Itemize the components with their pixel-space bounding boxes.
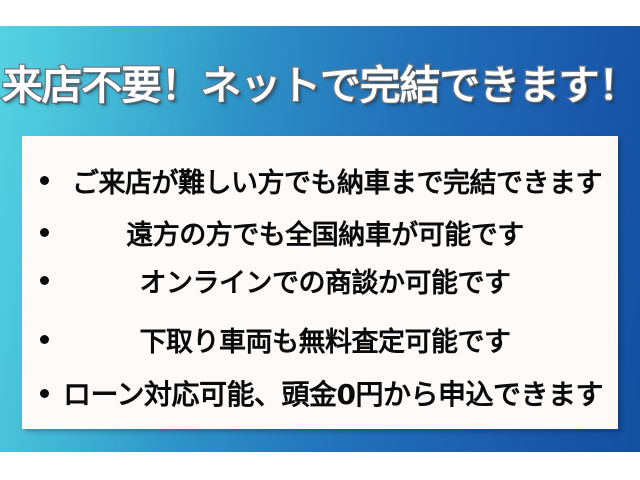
list-item: 下取り車両も無料査定可能です [22,317,618,361]
feature-card: ご来店が難しい方でも納車まで完結できます 遠方の方でも全国納車が可能です オンラ… [22,136,618,429]
promo-banner: 来店不要！ネットで完結できます！ ご来店が難しい方でも納車まで完結できます 遠方… [0,26,640,452]
headline-text: 来店不要！ネットで完結できます！ [2,53,638,111]
list-item: オンラインでの商談か可能です [22,258,618,302]
bullet-dot-icon [40,335,49,344]
list-item: ご来店が難しい方でも納車まで完結できます [22,158,618,202]
bullet-dot-icon [40,176,49,185]
bullet-dot-icon [40,389,49,398]
banner-headline: 来店不要！ネットで完結できます！ [0,56,640,108]
feature-list: ご来店が難しい方でも納車まで完結できます 遠方の方でも全国納車が可能です オンラ… [22,136,618,429]
list-item: ローン対応可能、頭金0円から申込できます [22,371,618,415]
bullet-dot-icon [40,276,49,285]
list-item-label: ご来店が難しい方でも納車まで完結できます [22,161,618,200]
list-item-label: 下取り車両も無料査定可能です [22,320,618,359]
list-item: 遠方の方でも全国納車が可能です [22,210,618,254]
list-item-label: ローン対応可能、頭金0円から申込できます [22,373,618,413]
bullet-dot-icon [40,228,49,237]
list-item-label: 遠方の方でも全国納車が可能です [22,213,618,252]
list-item-label: オンラインでの商談か可能です [22,261,618,300]
